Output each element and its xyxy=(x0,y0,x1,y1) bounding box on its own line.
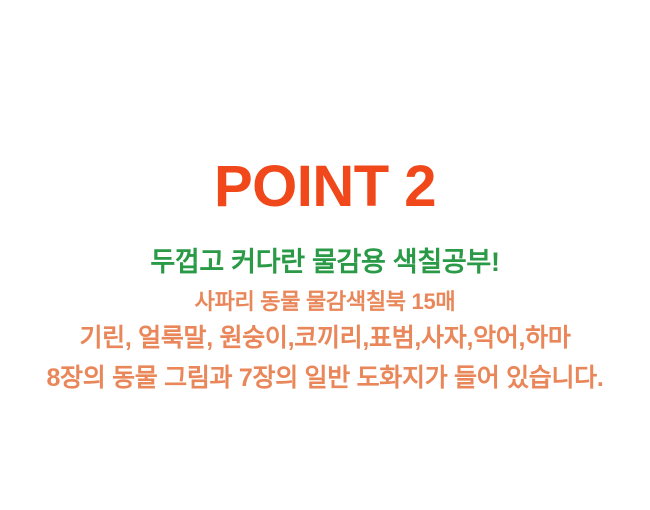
promo-detail-product: 사파리 동물 물감색칠북 15매 xyxy=(195,290,456,313)
promo-subheadline: 두껍고 커다란 물감용 색칠공부! xyxy=(150,248,499,276)
promo-detail-contents: 8장의 동물 그림과 7장의 일반 도화지가 들어 있습니다. xyxy=(46,365,603,391)
page-title: POINT 2 xyxy=(214,158,436,216)
promo-panel: POINT 2 두껍고 커다란 물감용 색칠공부! 사파리 동물 물감색칠북 1… xyxy=(0,0,650,510)
promo-content-stack: POINT 2 두껍고 커다란 물감용 색칠공부! 사파리 동물 물감색칠북 1… xyxy=(0,0,650,510)
promo-detail-animals: 기린, 얼룩말, 원숭이,코끼리,표범,사자,악어,하마 xyxy=(79,325,570,351)
